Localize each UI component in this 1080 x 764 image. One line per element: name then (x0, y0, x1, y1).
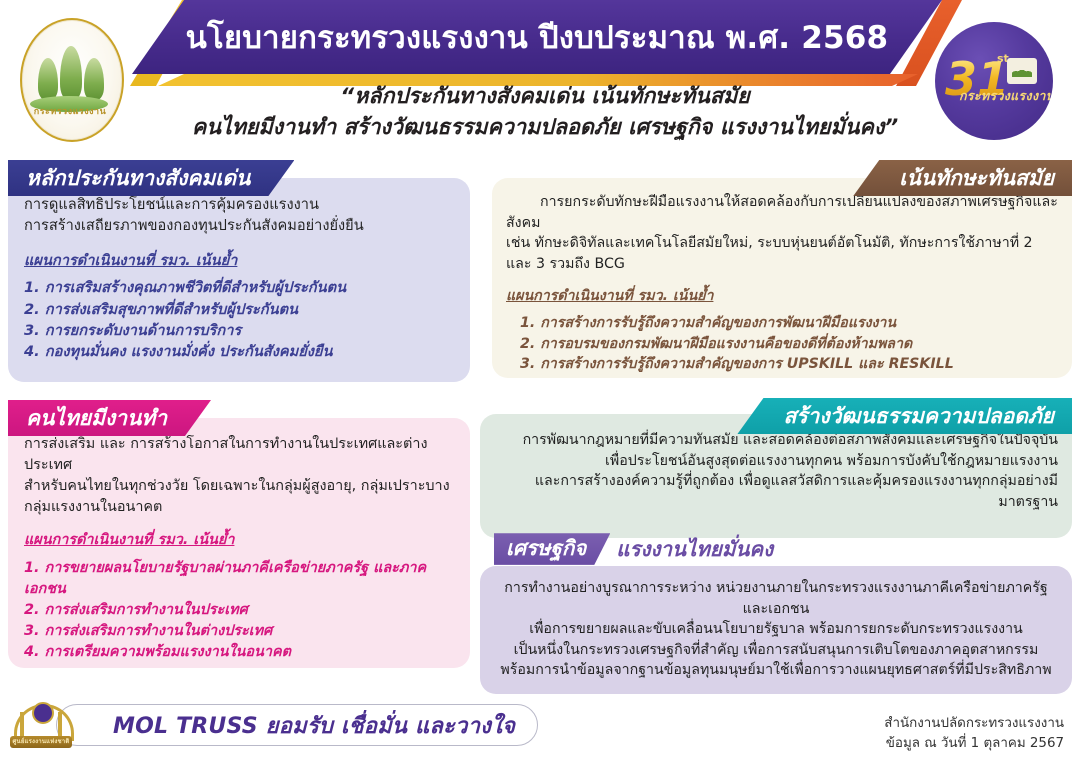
social-plan-item: 3. การยกระดับงานด้านการบริการ (24, 320, 452, 341)
jobs-plan-item: 3. การส่งเสริมการทำงานในต่างประเทศ (24, 621, 454, 642)
skills-body-line-1: การยกระดับทักษะฝีมือแรงงานให้สอดคล้องกับ… (506, 192, 1058, 233)
page-header: กระทรวงแรงงาน นโยบายกระทรวงแรงงาน ปีงบปร… (0, 0, 1080, 152)
anniversary-word: กระทรวงแรงงาน (959, 86, 1053, 106)
jobs-body-line-2: สำหรับคนไทยในทุกช่วงวัย โดยเฉพาะในกลุ่มผ… (24, 476, 454, 497)
page-title: นโยบายกระทรวงแรงงาน ปีงบประมาณ พ.ศ. 2568 (132, 0, 942, 74)
mol-logo-pillar-right (58, 712, 62, 738)
jobs-plan-list: 1. การขยายผลนโยบายรัฐบาลผ่านภาคีเครือข่า… (24, 558, 454, 662)
panel-safety-culture: สร้างวัฒนธรรมความปลอดภัย การพัฒนากฎหมายท… (480, 398, 1072, 538)
header-subtitle-line-2: คนไทยมีงานทำ สร้างวัฒนธรรมความปลอดภัย เศ… (150, 113, 940, 144)
economy-body-line-2: เพื่อการขยายผลและขับเคลื่อนนโยบายรัฐบาล … (494, 619, 1058, 640)
ministry-emblem-icon: กระทรวงแรงงาน (16, 12, 124, 144)
footer-source-note: สำนักงานปลัดกระทรวงแรงงาน ข้อมูล ณ วันที… (884, 714, 1064, 754)
economy-tab-chip: เศรษฐกิจ (494, 533, 610, 565)
social-plan-item: 2. การส่งเสริมสุขภาพที่ดีสำหรับผู้ประกัน… (24, 299, 452, 320)
emblem-figures (34, 34, 106, 100)
mol-truss-label: MOL TRUSS ยอมรับ เชื่อมั่น และวางใจ (113, 708, 515, 743)
economy-body-line-1: การทำงานอย่างบูรณาการระหว่าง หน่วยงานภาย… (494, 578, 1058, 619)
jobs-plan-item: 2. การส่งเสริมการทำงานในประเทศ (24, 600, 454, 621)
panel-modern-skills: เน้นทักษะทันสมัย การยกระดับทักษะฝีมือแรง… (492, 160, 1072, 378)
emblem-caption: กระทรวงแรงงาน (16, 104, 124, 118)
skills-plan-item: 3. การสร้างการรับรู้ถึงความสำคัญของการ U… (520, 354, 1058, 375)
jobs-plan-heading: แผนการดำเนินงานที่ รมว. เน้นย้ำ (24, 530, 234, 551)
mol-logo-crest (32, 702, 54, 724)
panel-thai-employment: คนไทยมีงานทำ การส่งเสริม และ การสร้างโอก… (8, 400, 470, 668)
skills-plan-item: 1. การสร้างการรับรู้ถึงความสำคัญของการพั… (520, 313, 1058, 334)
social-plan-list: 1. การเสริมสร้างคุณภาพชีวิตที่ดีสำหรับผู… (24, 277, 452, 362)
safety-body-line-2: เพื่อประโยชน์อันสูงสุดต่อแรงงานทุกคน พร้… (494, 451, 1058, 472)
jobs-body-line-1: การส่งเสริม และ การสร้างโอกาสในการทำงานใ… (24, 434, 454, 476)
panel-thai-employment-tab: คนไทยมีงานทำ (8, 400, 211, 436)
mol-logo-caption: ศูนย์แรงงานแห่งชาติ (10, 736, 72, 748)
panel-social-security: หลักประกันทางสังคมเด่น การดูแลสิทธิประโย… (8, 160, 470, 382)
jobs-body-line-3: กลุ่มแรงงานในอนาคต (24, 497, 454, 518)
skills-plan-item: 2. การอบรมของกรมพัฒนาฝีมือแรงงานคือของดี… (520, 334, 1058, 355)
header-subtitle: “หลักประกันทางสังคมเด่น เน้นทักษะทันสมัย… (150, 82, 940, 143)
skills-plan-list: 1. การสร้างการรับรู้ถึงความสำคัญของการพั… (506, 313, 1058, 375)
social-plan-item: 4. กองทุนมั่นคง แรงงานมั่งคั่ง ประกันสัง… (24, 341, 452, 362)
panel-economy-labour-tab: เศรษฐกิจ แรงงานไทยมั่นคง (494, 532, 773, 566)
mol-truss-logo-icon: ศูนย์แรงงานแห่งชาติ (10, 698, 72, 750)
panel-modern-skills-tab: เน้นทักษะทันสมัย (853, 160, 1072, 196)
skills-plan-heading: แผนการดำเนินงานที่ รมว. เน้นย้ำ (506, 286, 713, 307)
social-plan-item: 1. การเสริมสร้างคุณภาพชีวิตที่ดีสำหรับผู… (24, 277, 452, 298)
panel-safety-culture-tab: สร้างวัฒนธรรมความปลอดภัย (737, 398, 1072, 434)
mol-truss-badge: MOL TRUSS ยอมรับ เชื่อมั่น และวางใจ (56, 704, 538, 746)
jobs-plan-item: 4. การเตรียมความพร้อมแรงงานในอนาคต (24, 642, 454, 663)
economy-tab-rest: แรงงานไทยมั่นคง (616, 533, 773, 566)
skills-body-line-2: เช่น ทักษะดิจิทัลและเทคโนโลยีสมัยใหม่, ร… (506, 233, 1058, 274)
panel-thai-employment-text: การส่งเสริม และ การสร้างโอกาสในการทำงานใ… (8, 400, 470, 663)
social-body-line-1: การดูแลสิทธิประโยชน์และการคุ้มครองแรงงาน (24, 194, 452, 215)
footer-office: สำนักงานปลัดกระทรวงแรงงาน (884, 714, 1064, 734)
social-plan-heading: แผนการดำเนินงานที่ รมว. เน้นย้ำ (24, 250, 237, 271)
jobs-plan-item: 1. การขยายผลนโยบายรัฐบาลผ่านภาคีเครือข่า… (24, 558, 454, 600)
panel-social-security-tab: หลักประกันทางสังคมเด่น (8, 160, 294, 196)
economy-body-line-3: เป็นหนึ่งในกระทรวงเศรษฐกิจที่สำคัญ เพื่อ… (494, 640, 1058, 661)
safety-body-line-3: และการสร้างองค์ความรู้ที่ถูกต้อง เพื่อดู… (494, 471, 1058, 512)
footer-date: ข้อมูล ณ วันที่ 1 ตุลาคม 2567 (884, 734, 1064, 754)
economy-body-line-4: พร้อมการนำข้อมูลจากฐานข้อมูลทุนมนุษย์มาใ… (494, 660, 1058, 681)
social-body-line-2: การสร้างเสถียรภาพของกองทุนประกันสังคมอย่… (24, 215, 452, 236)
mol-logo-pillar-left (20, 712, 24, 738)
anniversary-badge-icon: 31 st กระทรวงแรงงาน (935, 22, 1053, 140)
header-subtitle-line-1: “หลักประกันทางสังคมเด่น เน้นทักษะทันสมัย (150, 82, 940, 113)
anniversary-seal-icon (1007, 58, 1037, 84)
panel-economy-labour: เศรษฐกิจ แรงงานไทยมั่นคง การทำงานอย่างบู… (480, 532, 1072, 694)
